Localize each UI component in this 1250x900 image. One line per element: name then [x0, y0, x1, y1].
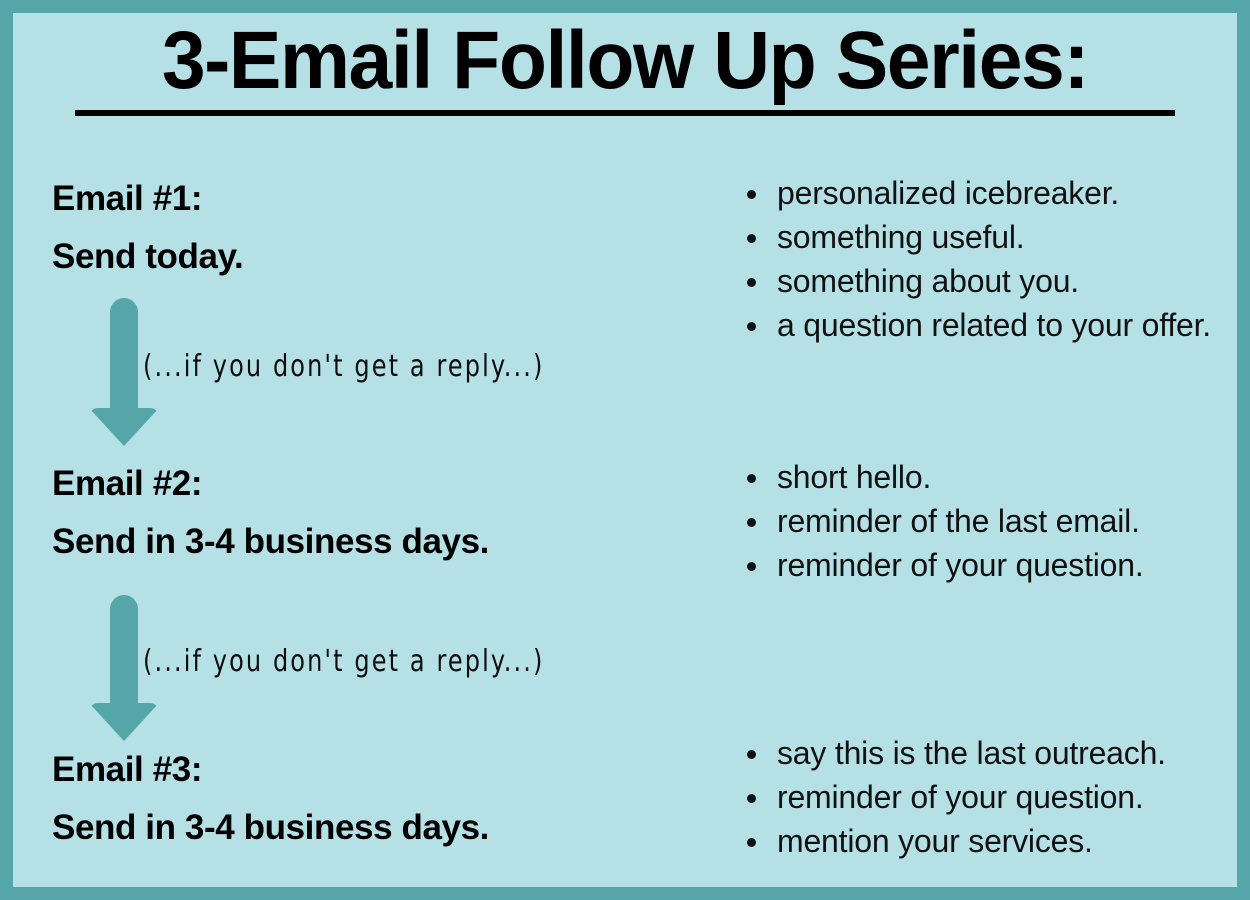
step-1-label: Email #1:	[52, 170, 243, 228]
bullet-dot-icon	[747, 838, 756, 847]
title-block: 3-Email Follow Up Series:	[13, 13, 1237, 103]
step-heading-email-3: Email #3: Send in 3-4 business days.	[52, 741, 489, 857]
step-2-label: Email #2:	[52, 455, 489, 513]
infographic-poster: 3-Email Follow Up Series: Email #1: Send…	[0, 0, 1250, 900]
list-item-label: reminder of your question.	[777, 547, 1144, 583]
list-item: say this is the last outreach.	[727, 731, 1166, 775]
step-heading-email-2: Email #2: Send in 3-4 business days.	[52, 455, 489, 571]
list-item: reminder of your question.	[727, 775, 1166, 819]
list-item-label: something useful.	[777, 219, 1024, 255]
list-item: something useful.	[727, 215, 1211, 259]
bullet-list-email-3: say this is the last outreach. reminder …	[727, 731, 1166, 863]
list-item: reminder of your question.	[727, 543, 1144, 587]
bullet-dot-icon	[747, 562, 756, 571]
arrow-head	[89, 408, 159, 446]
bullet-list-email-1: personalized icebreaker. something usefu…	[727, 171, 1211, 347]
list-item-label: say this is the last outreach.	[777, 735, 1166, 771]
list-item-label: something about you.	[777, 263, 1079, 299]
list-item: short hello.	[727, 455, 1144, 499]
list-item-label: reminder of your question.	[777, 779, 1144, 815]
list-item-label: a question related to your offer.	[777, 307, 1211, 343]
list-item-label: short hello.	[777, 459, 931, 495]
bullet-dot-icon	[747, 518, 756, 527]
bullet-dot-icon	[747, 322, 756, 331]
page-title: 3-Email Follow Up Series:	[37, 13, 1212, 103]
list-item-label: reminder of the last email.	[777, 503, 1140, 539]
connector-note-1: (...if you don't get a reply...)	[143, 348, 544, 383]
bullet-dot-icon	[747, 190, 756, 199]
title-underline-rule	[75, 110, 1175, 116]
list-item: mention your services.	[727, 819, 1166, 863]
bullet-dot-icon	[747, 750, 756, 759]
list-item-label: mention your services.	[777, 823, 1093, 859]
bullet-dot-icon	[747, 278, 756, 287]
bullets-column: personalized icebreaker. something usefu…	[727, 143, 1237, 887]
steps-column: Email #1: Send today. (...if you don't g…	[13, 143, 713, 887]
bullet-list-email-2: short hello. reminder of the last email.…	[727, 455, 1144, 587]
step-heading-email-1: Email #1: Send today.	[52, 170, 243, 286]
connector-note-2: (...if you don't get a reply...)	[143, 643, 544, 678]
bullet-dot-icon	[747, 794, 756, 803]
step-1-timing: Send today.	[52, 228, 243, 286]
arrow-shaft	[110, 595, 138, 711]
step-3-label: Email #3:	[52, 741, 489, 799]
list-item: personalized icebreaker.	[727, 171, 1211, 215]
list-item-label: personalized icebreaker.	[777, 175, 1119, 211]
list-item: a question related to your offer.	[727, 303, 1211, 347]
arrow-head	[89, 703, 159, 741]
list-item: reminder of the last email.	[727, 499, 1144, 543]
list-item: something about you.	[727, 259, 1211, 303]
step-3-timing: Send in 3-4 business days.	[52, 799, 489, 857]
arrow-shaft	[110, 298, 138, 416]
body-area: Email #1: Send today. (...if you don't g…	[13, 143, 1237, 887]
step-2-timing: Send in 3-4 business days.	[52, 513, 489, 571]
bullet-dot-icon	[747, 234, 756, 243]
bullet-dot-icon	[747, 474, 756, 483]
